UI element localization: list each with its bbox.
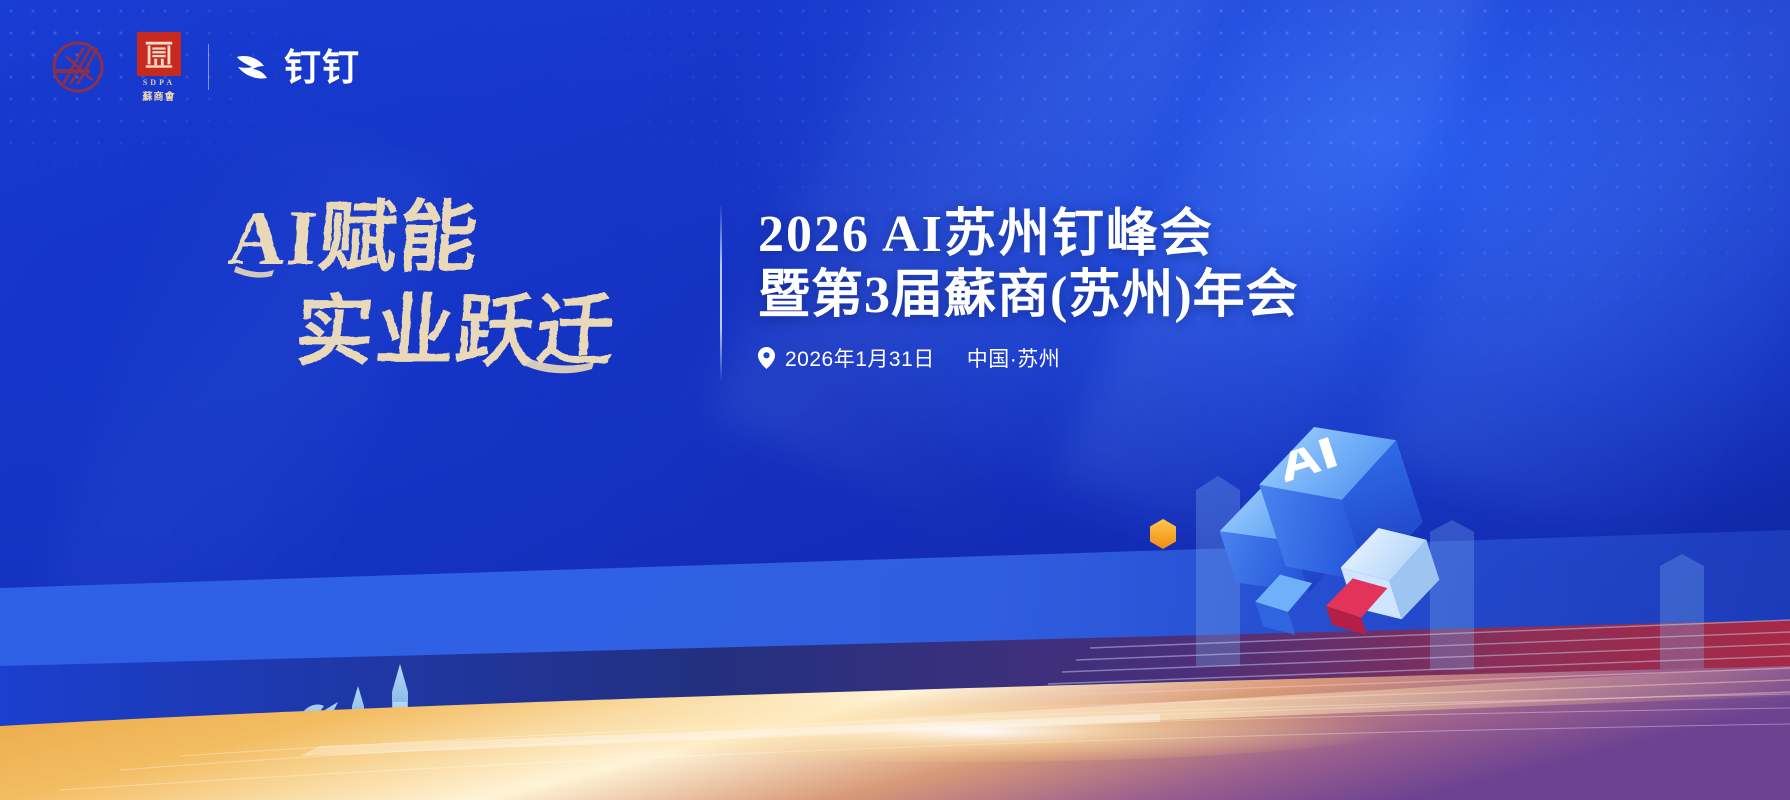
event-date: 2026年1月31日 xyxy=(785,343,935,373)
dingtalk-wing-icon xyxy=(231,45,275,89)
sdpa-chinese-name: 蘇商會 xyxy=(143,88,176,103)
location-pin-icon xyxy=(758,347,775,369)
dingtalk-logo: 钉钉 xyxy=(231,45,360,89)
event-banner: SDPA 蘇商會 钉钉 AI赋能 实业跃迁 xyxy=(0,0,1790,800)
n-monogram-icon xyxy=(48,36,110,98)
headline-divider xyxy=(720,205,722,380)
sdpa-logo: SDPA 蘇商會 xyxy=(132,32,186,103)
slogan-calligraphy: AI赋能 实业跃迁 xyxy=(228,186,708,391)
slogan-line-2-text: 实业跃迁 xyxy=(293,288,619,375)
ai-cube-graphic xyxy=(1210,400,1460,680)
logo-bar: SDPA 蘇商會 钉钉 xyxy=(48,34,360,100)
headline-block: 2026 AI苏州钉峰会 暨第3届蘇商(苏州)年会 2026年1月31日 中国·… xyxy=(758,204,1478,373)
event-place: 中国·苏州 xyxy=(967,343,1061,373)
logo-divider xyxy=(208,44,209,90)
event-meta: 2026年1月31日 中国·苏州 xyxy=(758,343,1478,373)
hexagon-shape-icon xyxy=(1148,518,1178,550)
headline-line-2: 暨第3届蘇商(苏州)年会 xyxy=(758,265,1478,326)
slogan-line-1-text: AI赋能 xyxy=(228,194,482,281)
sdpa-seal-icon xyxy=(137,32,181,76)
dingtalk-label: 钉钉 xyxy=(284,49,360,86)
bottom-scene xyxy=(0,470,1790,800)
headline-line-1: 2026 AI苏州钉峰会 xyxy=(758,204,1478,265)
sdpa-abbreviation: SDPA xyxy=(143,78,175,87)
